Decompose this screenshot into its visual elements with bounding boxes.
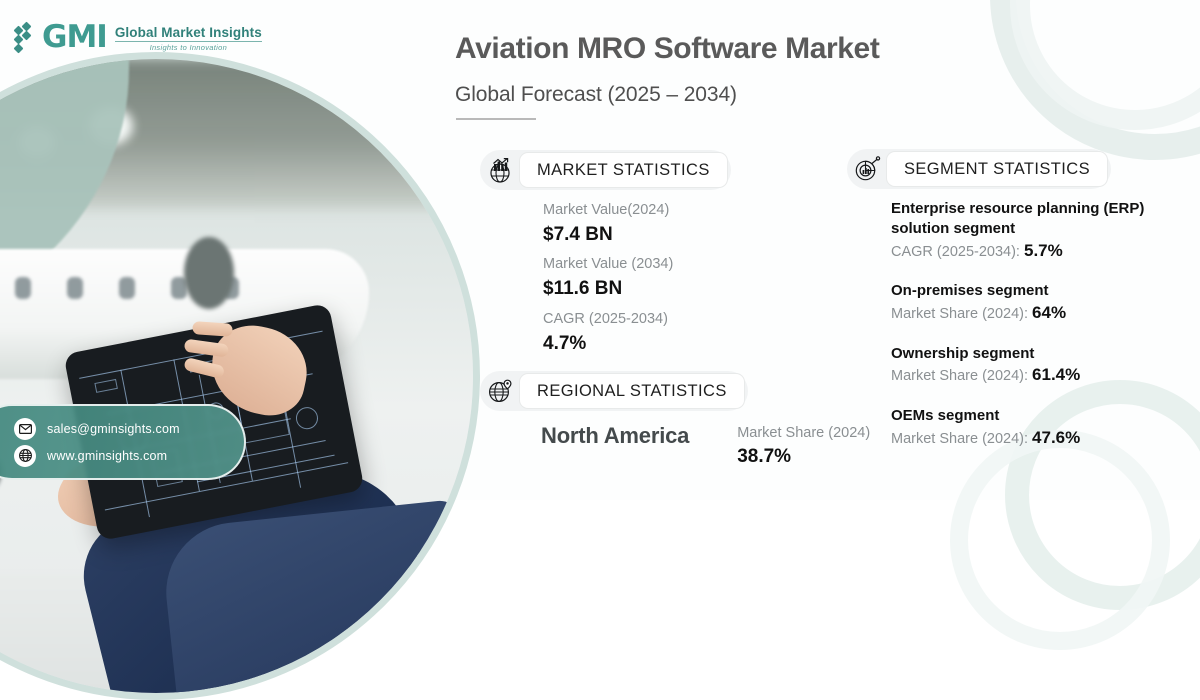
segment-statistics-list: Enterprise resource planning (ERP) solut… [891, 199, 1161, 469]
contact-website-row[interactable]: www.gminsights.com [14, 445, 244, 467]
page-title: Aviation MRO Software Market [455, 32, 879, 66]
contact-website-text: www.gminsights.com [47, 449, 167, 463]
technician-sleeve-upper [159, 499, 478, 700]
globe-pin-icon [480, 371, 520, 411]
regional-statistics-label: REGIONAL STATISTICS [520, 374, 744, 408]
logo-wordmark: Global Market Insights Insights to Innov… [115, 23, 262, 52]
segment-metric: Market Share (2024): 61.4% [891, 363, 1161, 388]
segment-metric: Market Share (2024): 47.6% [891, 426, 1161, 451]
market-stat-value: $11.6 BN [543, 276, 673, 302]
decorative-arc-top-right-inner [1010, 0, 1200, 130]
gmi-diamond-icon [14, 23, 34, 53]
envelope-icon [14, 418, 36, 440]
contact-email-row[interactable]: sales@gminsights.com [14, 418, 244, 440]
segment-item: On-premises segment Market Share (2024):… [891, 281, 1161, 325]
market-statistics-list: Market Value(2024) $7.4 BN Market Value … [543, 200, 673, 363]
segment-item: Ownership segment Market Share (2024): 6… [891, 344, 1161, 388]
decorative-arc-top-right-outer [990, 0, 1200, 160]
regional-statistics-body: North America Market Share (2024) 38.7% [541, 423, 870, 469]
market-stat-item: Market Value (2034) $11.6 BN [543, 254, 673, 301]
region-share-value: 38.7% [737, 445, 870, 470]
market-stat-item: CAGR (2025-2034) 4.7% [543, 309, 673, 356]
market-stat-value: 4.7% [543, 331, 673, 357]
market-statistics-label: MARKET STATISTICS [520, 153, 727, 187]
region-share: Market Share (2024) 38.7% [737, 423, 870, 469]
brand-logo[interactable]: GMI Global Market Insights Insights to I… [14, 22, 262, 53]
segment-metric-label: Market Share (2024): [891, 306, 1032, 322]
segment-metric-label: Market Share (2024): [891, 431, 1032, 447]
segment-metric-label: Market Share (2024): [891, 368, 1032, 384]
aircraft-engine [184, 237, 234, 309]
globe-bar-chart-icon [480, 150, 520, 190]
market-stat-label: Market Value (2034) [543, 254, 673, 276]
hero-image-content [0, 59, 473, 693]
segment-metric-value: 64% [1032, 303, 1066, 322]
globe-icon [14, 445, 36, 467]
page-subtitle: Global Forecast (2025 – 2034) [455, 83, 737, 107]
segment-metric-value: 61.4% [1032, 365, 1080, 384]
logo-company-name: Global Market Insights [115, 25, 262, 40]
segment-statistics-header: SEGMENT STATISTICS [847, 149, 1111, 189]
segment-metric-value: 5.7% [1024, 241, 1063, 260]
segment-metric: Market Share (2024): 64% [891, 301, 1161, 326]
market-stat-value: $7.4 BN [543, 222, 673, 248]
segment-name: Enterprise resource planning (ERP) solut… [891, 199, 1161, 239]
market-statistics-header: MARKET STATISTICS [480, 150, 731, 190]
market-stat-item: Market Value(2024) $7.4 BN [543, 200, 673, 247]
region-share-label: Market Share (2024) [737, 423, 870, 445]
contact-pill: sales@gminsights.com www.gminsights.com [0, 404, 246, 480]
aircraft-windows [0, 277, 279, 299]
segment-metric-label: CAGR (2025-2034): [891, 244, 1024, 260]
region-name: North America [541, 423, 689, 449]
contact-email-text: sales@gminsights.com [47, 422, 180, 436]
logo-tagline: Insights to Innovation [115, 43, 262, 52]
title-divider [456, 118, 536, 120]
segment-name: OEMs segment [891, 406, 1161, 426]
logo-gmi-text: GMI [42, 22, 107, 53]
segment-statistics-label: SEGMENT STATISTICS [887, 152, 1107, 186]
hero-image [0, 52, 480, 700]
market-stat-label: Market Value(2024) [543, 200, 673, 222]
pie-chart-icon [847, 149, 887, 189]
segment-metric: CAGR (2025-2034): 5.7% [891, 239, 1161, 264]
market-stat-label: CAGR (2025-2034) [543, 309, 673, 331]
logo-divider [115, 41, 262, 42]
segment-name: On-premises segment [891, 281, 1161, 301]
segment-item: OEMs segment Market Share (2024): 47.6% [891, 406, 1161, 450]
segment-metric-value: 47.6% [1032, 428, 1080, 447]
regional-statistics-header: REGIONAL STATISTICS [480, 371, 748, 411]
segment-name: Ownership segment [891, 344, 1161, 364]
infographic-canvas: sales@gminsights.com www.gminsights.com … [0, 0, 1200, 500]
segment-item: Enterprise resource planning (ERP) solut… [891, 199, 1161, 263]
